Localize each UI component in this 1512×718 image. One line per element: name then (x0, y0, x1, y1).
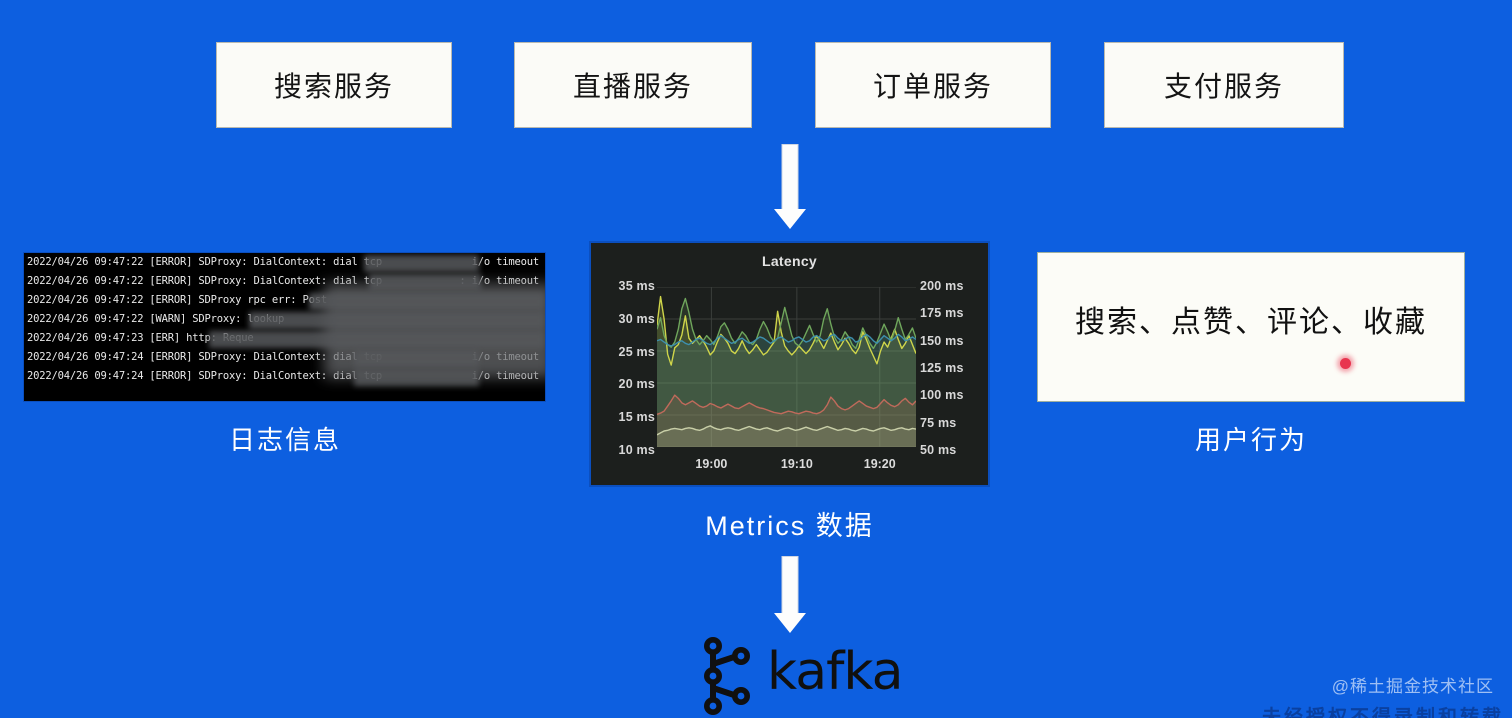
service-box-row: 搜索服务 直播服务 订单服务 支付服务 (0, 42, 1512, 130)
service-box-payment[interactable]: 支付服务 (1104, 42, 1344, 128)
service-box-label: 支付服务 (1164, 65, 1284, 105)
service-box-search[interactable]: 搜索服务 (216, 42, 452, 128)
redaction-overlay (249, 312, 544, 329)
chart-y-tick-left: 15 ms (599, 410, 655, 424)
chart-y-tick-left: 10 ms (599, 443, 655, 457)
chart-y-tick-right: 50 ms (920, 443, 956, 457)
chart-y-tick-right: 100 ms (920, 388, 964, 402)
metrics-caption: Metrics 数据 (589, 504, 990, 543)
log-line-tail: i/o timeout (472, 253, 539, 272)
log-caption: 日志信息 (0, 420, 570, 457)
behavior-caption: 用户行为 (1037, 420, 1465, 457)
service-box-label: 订单服务 (873, 65, 993, 105)
watermark: @稀土掘金技术社区 (1332, 672, 1494, 697)
arrow-down-icon (772, 556, 808, 634)
redaction-overlay (354, 369, 479, 386)
chart-y-tick-left: 25 ms (599, 345, 655, 359)
arrow-head (774, 209, 806, 229)
chart-y-tick-right: 175 ms (920, 306, 964, 320)
chart-y-tick-right: 200 ms (920, 279, 964, 293)
kafka-logo: kafka (695, 634, 895, 718)
service-box-label: 直播服务 (573, 65, 693, 105)
chart-y-tick-right: 75 ms (920, 416, 956, 430)
chart-y-tick-right: 125 ms (920, 361, 964, 375)
arrow-shaft (782, 144, 799, 210)
kafka-mark-icon (695, 634, 759, 718)
chart-y-tick-left: 35 ms (599, 279, 655, 293)
service-box-label: 搜索服务 (274, 65, 394, 105)
log-terminal-panel: 2022/04/26 09:47:22 [ERROR] SDProxy: Dia… (23, 252, 546, 402)
metrics-chart-panel: Latency 35 ms30 ms25 ms20 ms15 ms10 ms 2… (589, 241, 990, 487)
chart-plot-area (657, 287, 916, 447)
chart-svg (657, 287, 916, 447)
chart-y-axis-left: 35 ms30 ms25 ms20 ms15 ms10 ms (599, 287, 655, 451)
service-box-order[interactable]: 订单服务 (815, 42, 1051, 128)
cursor-dot (1340, 358, 1351, 369)
redaction-overlay (209, 331, 544, 348)
chart-title: Latency (591, 253, 988, 269)
chart-y-tick-left: 20 ms (599, 377, 655, 391)
kafka-wordmark: kafka (767, 642, 902, 702)
arrow-down-icon (772, 144, 808, 230)
redaction-overlay (309, 293, 544, 310)
arrow-head (774, 613, 806, 633)
log-line-text: 2022/04/26 09:47:22 [ERROR] SDProxy: Dia… (27, 256, 382, 268)
log-line-text: 2022/04/26 09:47:22 [ERROR] SDProxy rpc … (27, 294, 327, 306)
diagram-canvas: 搜索服务 直播服务 订单服务 支付服务 2022/04/26 09:47:22 … (0, 0, 1512, 718)
watermark-subtext: 未经授权不得录制和转载 (1262, 702, 1504, 718)
chart-x-tick: 19:00 (695, 457, 727, 471)
chart-y-tick-right: 150 ms (920, 334, 964, 348)
chart-x-tick: 19:20 (864, 457, 896, 471)
service-box-live[interactable]: 直播服务 (514, 42, 752, 128)
chart-x-tick: 19:10 (781, 457, 813, 471)
arrow-shaft (782, 556, 799, 614)
user-behavior-box[interactable]: 搜索、点赞、评论、收藏 (1037, 252, 1465, 402)
chart-y-tick-left: 30 ms (599, 312, 655, 326)
chart-y-axis-right: 200 ms175 ms150 ms125 ms100 ms75 ms50 ms (920, 287, 982, 451)
redaction-overlay (369, 274, 481, 291)
redaction-overlay (364, 255, 479, 272)
redaction-overlay (354, 350, 479, 367)
chart-x-axis: 19:0019:1019:20 (657, 457, 916, 475)
user-behavior-text: 搜索、点赞、评论、收藏 (1075, 297, 1427, 341)
log-line-text: 2022/04/26 09:47:22 [WARN] SDProxy: look… (27, 313, 284, 325)
